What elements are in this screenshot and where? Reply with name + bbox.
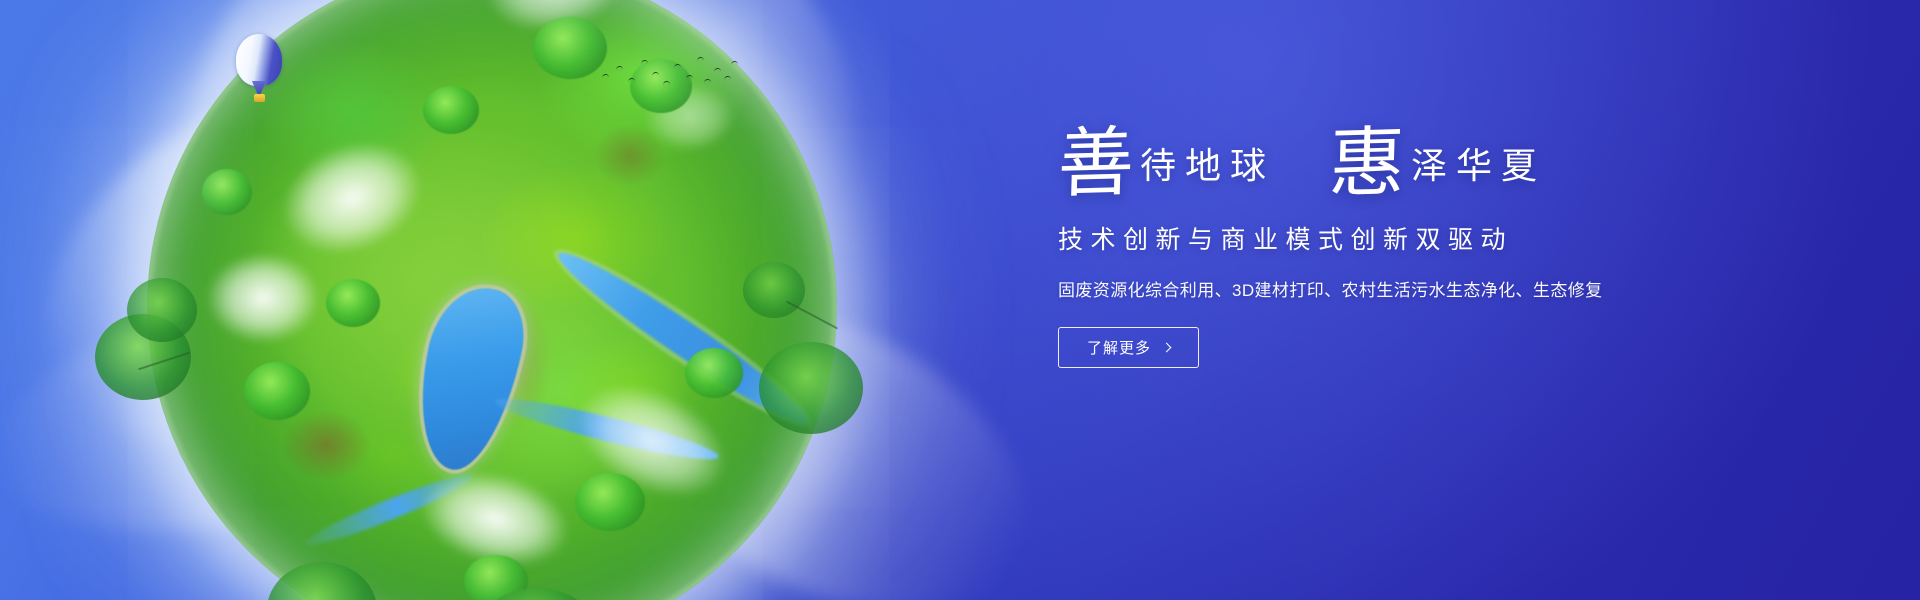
hot-air-balloon-icon: [236, 34, 282, 104]
learn-more-label: 了解更多: [1087, 337, 1151, 358]
headline-part1-small: 待地球: [1140, 149, 1275, 194]
tree-icon: [202, 169, 252, 215]
hero-banner: 善 待地球 惠 泽华夏 技术创新与商业模式创新双驱动 固废资源化综合利用、3D建…: [0, 0, 1920, 600]
subtitle: 技术创新与商业模式创新双驱动: [1058, 220, 1698, 256]
headline-part1-big: 善: [1057, 131, 1135, 195]
hero-content: 善 待地球 惠 泽华夏 技术创新与商业模式创新双驱动 固废资源化综合利用、3D建…: [1058, 132, 1698, 368]
balloon-taper: [252, 81, 266, 95]
headline-part2-small: 泽华夏: [1411, 149, 1546, 194]
tree-icon: [423, 86, 479, 134]
rim-tree-icon: [127, 278, 197, 342]
description: 固废资源化综合利用、3D建材打印、农村生活污水生态净化、生态修复: [1058, 276, 1698, 301]
surface-cloud: [188, 238, 338, 358]
tree-icon: [575, 473, 645, 531]
headline-part2-big: 惠: [1328, 131, 1406, 195]
rim-tree-icon: [759, 342, 863, 434]
balloon-envelope: [236, 34, 282, 86]
rim-tree-icon: [743, 262, 805, 318]
chevron-right-icon: [1162, 342, 1172, 352]
learn-more-button[interactable]: 了解更多: [1058, 327, 1199, 368]
balloon-basket: [254, 94, 265, 102]
tree-icon: [244, 362, 310, 420]
headline: 善 待地球 惠 泽华夏: [1058, 132, 1698, 194]
bird-flock-icon: [600, 48, 740, 98]
